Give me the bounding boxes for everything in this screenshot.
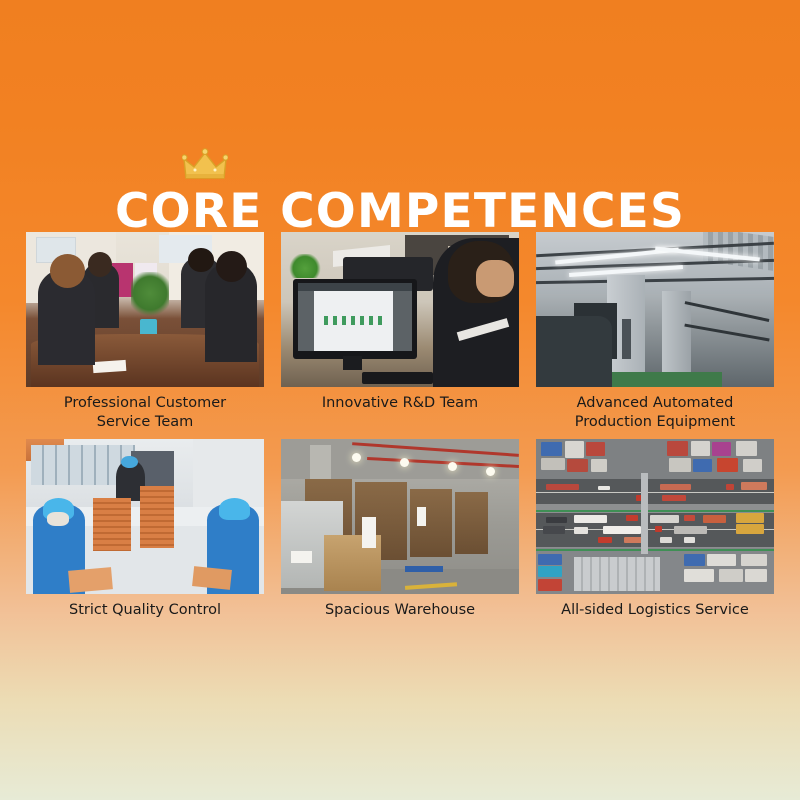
competence-tile: Innovative R&D Team [281, 232, 519, 432]
competence-tile: All-sided Logistics Service [536, 439, 774, 620]
photo-aerial-container-yard [536, 439, 774, 594]
photo-customer-service-meeting [26, 232, 264, 387]
photo-printing-press-line [536, 232, 774, 387]
photo-warehouse-pallets [281, 439, 519, 594]
competence-tile-grid: Professional Customer Service Team [26, 232, 774, 620]
core-competences-banner: CORE COMPETENCES Professi [0, 0, 800, 800]
caption-line-2: Service Team [97, 414, 194, 430]
tile-caption: Professional Customer Service Team [26, 394, 264, 432]
caption-line-2: Production Equipment [575, 414, 735, 430]
caption-line-1: Strict Quality Control [69, 602, 221, 618]
tile-caption: All-sided Logistics Service [536, 601, 774, 620]
tile-caption: Spacious Warehouse [281, 601, 519, 620]
tile-caption: Strict Quality Control [26, 601, 264, 620]
caption-line-1: Advanced Automated [577, 395, 734, 411]
competence-tile: Spacious Warehouse [281, 439, 519, 620]
competence-tile: Advanced Automated Production Equipment [536, 232, 774, 432]
caption-line-1: Spacious Warehouse [325, 602, 475, 618]
caption-line-1: Innovative R&D Team [322, 395, 478, 411]
caption-line-1: Professional Customer [64, 395, 226, 411]
competence-tile: Professional Customer Service Team [26, 232, 264, 432]
photo-quality-inspection-workers [26, 439, 264, 594]
competence-tile: Strict Quality Control [26, 439, 264, 620]
tile-caption: Advanced Automated Production Equipment [536, 394, 774, 432]
crown-icon [182, 148, 228, 182]
photo-rd-designer-workstation [281, 232, 519, 387]
tile-caption: Innovative R&D Team [281, 394, 519, 413]
caption-line-1: All-sided Logistics Service [561, 602, 749, 618]
